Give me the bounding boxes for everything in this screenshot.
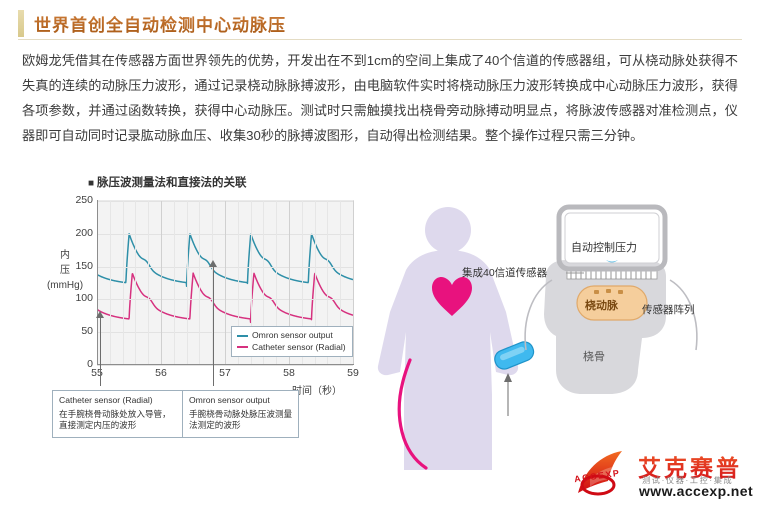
callout-arrow-head-catheter: [96, 311, 104, 318]
chart-y-tick: 50: [81, 325, 93, 337]
radius-bone-shape: [544, 260, 666, 394]
label-sensor-40ch: 集成40信道传感器: [462, 265, 547, 280]
illustration-svg: [370, 180, 759, 470]
body-silhouette-icon: [378, 207, 518, 470]
callout-arrow-line-omron: [213, 267, 214, 386]
chart-gridline-vertical: [187, 201, 188, 365]
bullet-square-icon: ■: [88, 178, 94, 189]
chart-gridline-vertical: [174, 201, 175, 365]
chart-gridline-horizontal: [97, 365, 353, 366]
legend-label-omron: Omron sensor output: [252, 330, 333, 342]
chart-x-tick-labels: 5556575859: [60, 367, 360, 383]
page-title: 世界首创全自动检测中心动脉压: [34, 11, 286, 36]
chart-x-tick: 55: [91, 367, 103, 379]
y-axis-label-line-2: 压: [36, 263, 94, 278]
y-axis-label-line-3: (mmHg): [36, 278, 94, 293]
chart-x-tick: 58: [283, 367, 295, 379]
chart-gridline-vertical: [135, 201, 136, 365]
legend-swatch-catheter: [237, 346, 248, 348]
chart-gridline-vertical: [199, 201, 200, 365]
chart-legend: Omron sensor output Catheter sensor (Rad…: [231, 326, 353, 357]
chart-gridline-vertical: [110, 201, 111, 365]
label-sensor-array: 传感器阵列: [642, 302, 695, 317]
callout-omron-caption: Omron sensor output: [189, 395, 293, 407]
callout-omron: Omron sensor output 手腕桡骨动脉处脉压波测量法测定的波形: [182, 390, 299, 438]
callout-arrow-head-omron: [209, 260, 217, 267]
chart-y-axis: [97, 200, 98, 364]
chart-x-tick: 56: [155, 367, 167, 379]
logo-url: www.accexp.net: [639, 483, 753, 499]
page-header: 世界首创全自动检测中心动脉压: [18, 10, 742, 40]
measurement-illustration: 集成40信道传感器 自动控制压力 桡动脉 传感器阵列 桡骨: [370, 180, 759, 470]
header-divider: [18, 39, 742, 40]
callout-catheter: Catheter sensor (Radial) 在手腕桡骨动脉处放入导管，直接…: [52, 390, 183, 438]
chart-gridline-vertical: [123, 201, 124, 365]
chart-x-tick: 57: [219, 367, 231, 379]
chart-y-tick: 200: [75, 227, 93, 239]
y-axis-label-line-1: 内: [36, 248, 94, 263]
chart-gridline-vertical: [225, 201, 226, 365]
legend-item-omron: Omron sensor output: [237, 330, 346, 342]
chart-gridline-vertical: [161, 201, 162, 365]
cuff-pointer-arrow: [504, 373, 512, 416]
label-radial-artery: 桡动脉: [585, 297, 618, 313]
intro-paragraph: 欧姆龙凭借其在传感器方面世界领先的优势，开发出在不到1cm的空间上集成了40个信…: [22, 48, 738, 148]
chart-heading: ■脉压波测量法和直接法的关联: [88, 174, 247, 190]
callout-arrow-line-catheter: [100, 318, 101, 386]
company-logo: ACCEXP 艾克赛普 测试·仪器·工控·集成 www.accexp.net: [570, 447, 759, 505]
callout-catheter-description: 在手腕桡骨动脉处放入导管，直接测定内压的波形: [59, 409, 177, 432]
header-accent-bar: [18, 10, 24, 37]
chart-heading-label: 脉压波测量法和直接法的关联: [97, 177, 247, 189]
chart-gridline-vertical: [148, 201, 149, 365]
pressure-control-device-shape: [559, 207, 665, 269]
legend-label-catheter: Catheter sensor (Radial): [252, 342, 346, 354]
label-radius-bone: 桡骨: [583, 348, 605, 364]
label-auto-pressure: 自动控制压力: [571, 239, 637, 255]
chart-y-tick: 250: [75, 194, 93, 206]
chart-gridline-vertical: [353, 201, 354, 365]
callout-omron-description: 手腕桡骨动脉处脉压波测量法测定的波形: [189, 409, 293, 432]
chart-x-tick: 59: [347, 367, 359, 379]
chart-x-axis-label: 时间（秒）: [292, 382, 342, 397]
chart-y-axis-label: 内 压 (mmHg): [36, 248, 94, 293]
callout-catheter-caption: Catheter sensor (Radial): [59, 395, 177, 407]
pulse-waveform-chart: 250200150100500 5556575859 内 压 (mmHg) 时间…: [60, 196, 370, 386]
legend-swatch-omron: [237, 335, 248, 337]
chart-y-tick: 100: [75, 292, 93, 304]
chart-x-axis: [97, 364, 354, 365]
legend-item-catheter: Catheter sensor (Radial): [237, 342, 346, 354]
